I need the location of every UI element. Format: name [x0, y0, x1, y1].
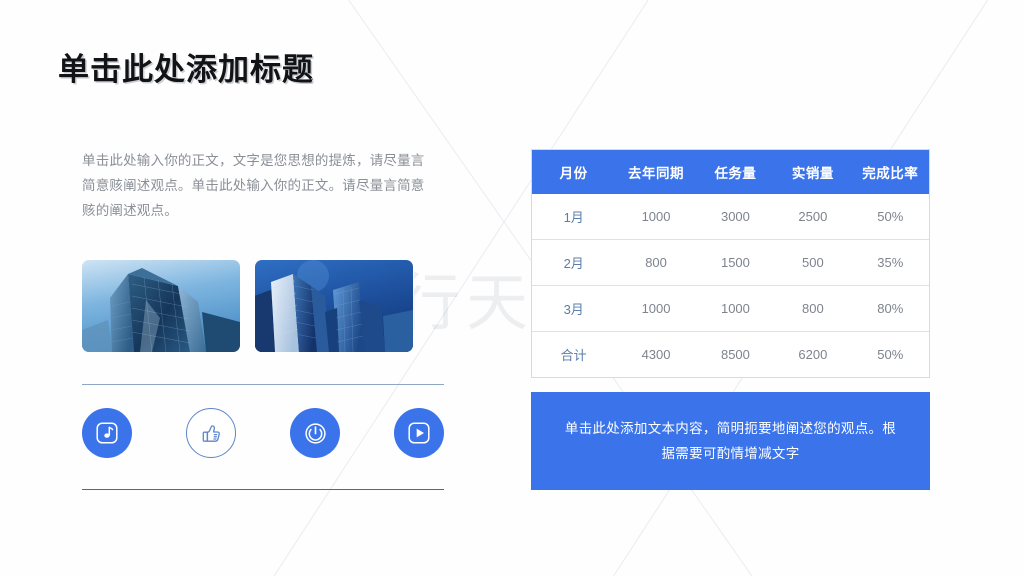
table-body: 1月 1000 3000 2500 50% 2月 800 1500 500 35…: [532, 194, 929, 377]
cell-target: 1500: [697, 240, 774, 286]
power-icon[interactable]: [290, 408, 340, 458]
column-header-target[interactable]: 任务量: [697, 150, 774, 194]
column-header-month[interactable]: 月份: [532, 150, 615, 194]
cell-target-total: 8500: [697, 332, 774, 378]
cell-target: 3000: [697, 194, 774, 240]
table-header-row: 月份 去年同期 任务量 实销量 完成比率: [532, 150, 929, 194]
icon-row: [82, 408, 444, 458]
cell-actual: 800: [774, 286, 851, 332]
left-content-column: 单击此处输入你的正文，文字是您思想的提炼，请尽量言简意赅阐述观点。单击此处输入你…: [82, 148, 444, 223]
caption-text: 单击此处添加文本内容，简明扼要地阐述您的观点。根据需要可酌情增减文字: [559, 416, 902, 466]
cell-actual: 2500: [774, 194, 851, 240]
table-row: 3月 1000 1000 800 80%: [532, 286, 929, 332]
column-header-actual[interactable]: 实销量: [774, 150, 851, 194]
slide-canvas: 图行天下 单击此处添加标题 单击此处输入你的正文，文字是您思想的提炼，请尽量言简…: [0, 0, 1024, 576]
cell-lastyear: 800: [615, 240, 696, 286]
caption-box[interactable]: 单击此处添加文本内容，简明扼要地阐述您的观点。根据需要可酌情增减文字: [531, 392, 930, 490]
cell-lastyear: 1000: [615, 286, 696, 332]
cell-month-total: 合计: [532, 332, 615, 378]
cell-target: 1000: [697, 286, 774, 332]
page-title: 单击此处添加标题: [58, 44, 314, 89]
table-header: 月份 去年同期 任务量 实销量 完成比率: [532, 150, 929, 194]
cell-month: 1月: [532, 194, 615, 240]
cell-lastyear: 1000: [615, 194, 696, 240]
thumbs-up-icon[interactable]: [186, 408, 236, 458]
photo-gallery: [82, 260, 413, 352]
city-towers-photo[interactable]: [255, 260, 413, 352]
cell-month: 3月: [532, 286, 615, 332]
column-header-rate[interactable]: 完成比率: [852, 150, 929, 194]
body-paragraph: 单击此处输入你的正文，文字是您思想的提炼，请尽量言简意赅阐述观点。单击此处输入你…: [82, 148, 434, 223]
glass-skyscraper-photo[interactable]: [82, 260, 240, 352]
play-icon[interactable]: [394, 408, 444, 458]
data-table: 月份 去年同期 任务量 实销量 完成比率 1月 1000 3000 2500 5…: [532, 150, 929, 377]
divider-top: [82, 384, 444, 385]
column-header-lastyear[interactable]: 去年同期: [615, 150, 696, 194]
music-note-icon[interactable]: [82, 408, 132, 458]
cell-rate-total: 50%: [852, 332, 929, 378]
table-row: 2月 800 1500 500 35%: [532, 240, 929, 286]
table-row-total: 合计 4300 8500 6200 50%: [532, 332, 929, 378]
table-row: 1月 1000 3000 2500 50%: [532, 194, 929, 240]
cell-rate: 50%: [852, 194, 929, 240]
cell-rate: 80%: [852, 286, 929, 332]
cell-rate: 35%: [852, 240, 929, 286]
cell-actual-total: 6200: [774, 332, 851, 378]
divider-bottom: [82, 489, 444, 490]
cell-actual: 500: [774, 240, 851, 286]
cell-lastyear-total: 4300: [615, 332, 696, 378]
data-table-container: 月份 去年同期 任务量 实销量 完成比率 1月 1000 3000 2500 5…: [531, 149, 930, 378]
cell-month: 2月: [532, 240, 615, 286]
